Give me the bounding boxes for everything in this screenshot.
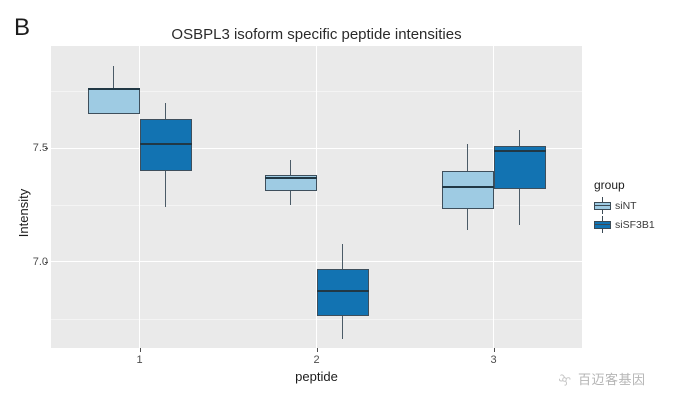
box-iqr xyxy=(494,146,546,189)
x-tick-mark xyxy=(317,348,318,352)
x-axis-title: peptide xyxy=(51,370,582,384)
median-line xyxy=(88,88,140,90)
y-tick-label: 7.5 xyxy=(6,143,48,154)
x-tick-label: 1 xyxy=(125,354,155,366)
legend-item-siNT[interactable]: siNT xyxy=(594,196,672,215)
legend: group siNTsiSF3B1 xyxy=(594,178,672,234)
legend-items: siNTsiSF3B1 xyxy=(594,196,672,234)
median-line xyxy=(317,290,369,292)
x-tick-label: 3 xyxy=(479,354,509,366)
y-tick-mark xyxy=(45,262,48,263)
watermark-text: 百迈客基因 xyxy=(578,372,646,387)
legend-item-label: siNT xyxy=(615,200,637,212)
legend-item-siSF3B1[interactable]: siSF3B1 xyxy=(594,215,672,234)
median-line xyxy=(265,177,317,179)
box-iqr xyxy=(317,269,369,317)
x-tick-mark xyxy=(140,348,141,352)
median-line xyxy=(494,150,546,152)
median-line xyxy=(442,186,494,188)
x-tick-label: 2 xyxy=(302,354,332,366)
legend-title: group xyxy=(594,178,672,192)
flower-logo-icon xyxy=(556,371,573,388)
y-tick-mark xyxy=(45,148,48,149)
y-tick-label: 7.0 xyxy=(6,257,48,268)
chart-title: OSBPL3 isoform specific peptide intensit… xyxy=(51,26,582,43)
panel-label: B xyxy=(14,16,30,40)
box-iqr xyxy=(442,171,494,210)
box-iqr xyxy=(140,119,192,171)
watermark: 百迈客基因 xyxy=(556,356,668,402)
y-axis: Intensity 7.57.0 xyxy=(0,46,48,348)
x-tick-mark xyxy=(494,348,495,352)
box-iqr xyxy=(88,89,140,114)
figure-panel-b: B OSBPL3 isoform specific peptide intens… xyxy=(0,0,673,406)
legend-key-icon xyxy=(594,197,611,214)
legend-item-label: siSF3B1 xyxy=(615,219,655,231)
legend-key-icon xyxy=(594,216,611,233)
plot-panel xyxy=(51,46,582,348)
median-line xyxy=(140,143,192,145)
y-axis-title: Intensity xyxy=(17,153,31,273)
